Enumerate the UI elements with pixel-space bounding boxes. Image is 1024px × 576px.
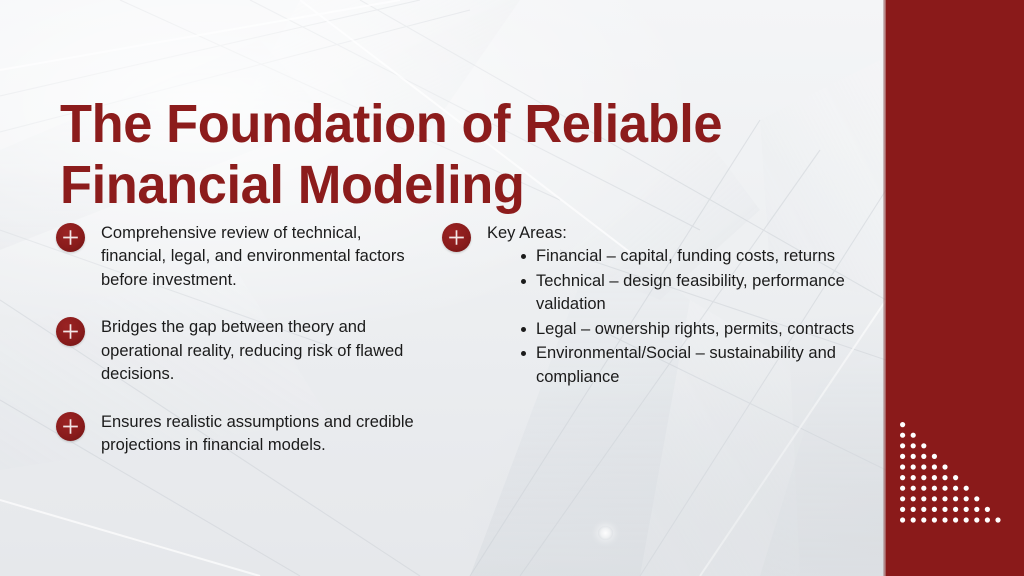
- decorative-dot: [964, 517, 969, 522]
- plus-circle-icon: [56, 317, 85, 346]
- sublist-item: Financial – capital, funding costs, retu…: [521, 245, 862, 268]
- decorative-dot: [974, 517, 979, 522]
- decorative-dot: [921, 443, 926, 448]
- decorative-dot: [921, 454, 926, 459]
- decorative-dot: [921, 475, 926, 480]
- decorative-dot: [942, 507, 947, 512]
- decorative-dot: [911, 454, 916, 459]
- decorative-dot: [911, 486, 916, 491]
- sublist-item: Environmental/Social – sustainability an…: [521, 342, 862, 389]
- decorative-dot: [911, 507, 916, 512]
- decorative-dot: [900, 517, 905, 522]
- bullet-text: Ensures realistic assumptions and credib…: [101, 411, 426, 458]
- decorative-dot: [932, 496, 937, 501]
- dot-triangle-decoration: [898, 416, 1004, 526]
- bullet-block: Key Areas: Financial – capital, funding …: [442, 222, 862, 389]
- sublist-item: Legal – ownership rights, permits, contr…: [521, 318, 862, 341]
- decorative-dot: [985, 507, 990, 512]
- decorative-dot: [921, 486, 926, 491]
- decorative-dot: [900, 454, 905, 459]
- decorative-dot: [911, 475, 916, 480]
- bullet-text: Key Areas:: [487, 222, 862, 245]
- bullet-block: Ensures realistic assumptions and credib…: [56, 411, 426, 458]
- decorative-dot: [953, 517, 958, 522]
- decorative-dot: [900, 433, 905, 438]
- decorative-dot: [900, 464, 905, 469]
- decorative-dot: [985, 517, 990, 522]
- decorative-dot: [911, 443, 916, 448]
- decorative-dot: [964, 486, 969, 491]
- decorative-dot: [942, 475, 947, 480]
- decorative-dot: [900, 486, 905, 491]
- decorative-dot: [932, 517, 937, 522]
- bullet-block: Bridges the gap between theory and opera…: [56, 316, 426, 386]
- decorative-dot: [921, 507, 926, 512]
- decorative-dot: [921, 496, 926, 501]
- decorative-dot: [942, 517, 947, 522]
- decorative-dot: [911, 517, 916, 522]
- left-content-column: Comprehensive review of technical, finan…: [56, 222, 426, 457]
- slide-canvas: The Foundation of Reliable Financial Mod…: [0, 0, 1024, 576]
- decorative-dot: [974, 496, 979, 501]
- bullet-text: Comprehensive review of technical, finan…: [101, 222, 426, 292]
- background-light-speck: [598, 526, 613, 540]
- decorative-dot: [921, 464, 926, 469]
- decorative-dot: [953, 475, 958, 480]
- decorative-dot: [921, 517, 926, 522]
- slide-title: The Foundation of Reliable Financial Mod…: [60, 94, 826, 215]
- decorative-dot: [900, 422, 905, 427]
- decorative-dot: [900, 475, 905, 480]
- decorative-dot: [900, 507, 905, 512]
- decorative-dot: [932, 475, 937, 480]
- decorative-dot: [932, 486, 937, 491]
- decorative-dot: [995, 517, 1000, 522]
- decorative-dot: [911, 464, 916, 469]
- decorative-dot: [953, 486, 958, 491]
- decorative-dot: [900, 496, 905, 501]
- decorative-dot: [932, 507, 937, 512]
- decorative-dot: [900, 443, 905, 448]
- bullet-text: Bridges the gap between theory and opera…: [101, 316, 426, 386]
- right-content-column: Key Areas: Financial – capital, funding …: [442, 222, 862, 390]
- bullet-block: Comprehensive review of technical, finan…: [56, 222, 426, 292]
- decorative-dot: [942, 464, 947, 469]
- decorative-dot: [964, 507, 969, 512]
- plus-circle-icon: [442, 223, 471, 252]
- plus-circle-icon: [56, 412, 85, 441]
- decorative-dot: [911, 433, 916, 438]
- decorative-dot: [953, 496, 958, 501]
- decorative-dot: [942, 496, 947, 501]
- decorative-dot: [942, 486, 947, 491]
- plus-circle-icon: [56, 223, 85, 252]
- decorative-dot: [974, 507, 979, 512]
- decorative-dot: [964, 496, 969, 501]
- decorative-dot: [932, 464, 937, 469]
- key-areas-sublist: Financial – capital, funding costs, retu…: [487, 245, 862, 389]
- sublist-item: Technical – design feasibility, performa…: [521, 270, 862, 317]
- decorative-dot: [911, 496, 916, 501]
- decorative-dot: [932, 454, 937, 459]
- decorative-dot: [953, 507, 958, 512]
